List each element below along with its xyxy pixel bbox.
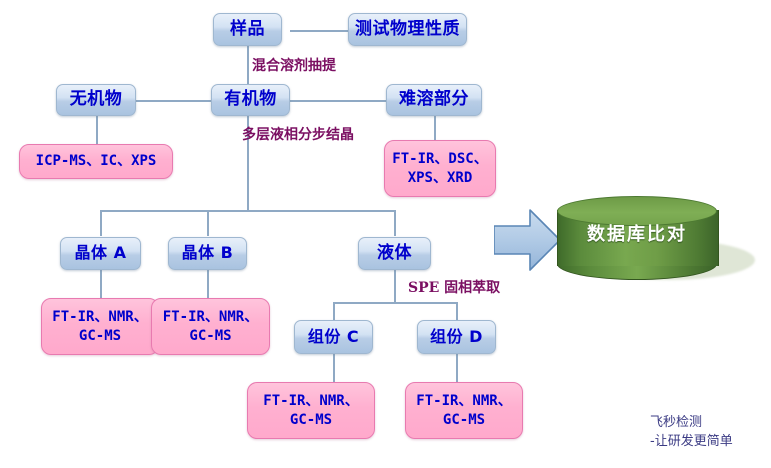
connector-bus-to-crystal-b (207, 210, 209, 236)
connector-branch-bus (100, 210, 396, 212)
method-box-crystal-b[interactable]: FT-IR、NMR、 GC-MS (151, 298, 270, 355)
arrow-to-database-icon (494, 206, 562, 274)
method-box-insoluble-label: FT-IR、DSC、 XPS、XRD (392, 150, 487, 188)
connector-component-d-to-methods (456, 354, 458, 382)
annotation-spe: SPE 固相萃取 (408, 277, 500, 297)
node-insoluble-label: 难溶部分 (399, 90, 469, 110)
method-box-crystal-a-label: FT-IR、NMR、 GC-MS (52, 308, 147, 346)
method-box-crystal-a[interactable]: FT-IR、NMR、 GC-MS (41, 298, 159, 355)
connector-crystal-b-to-methods (207, 270, 209, 298)
node-inorganic-label: 无机物 (70, 90, 123, 110)
connector-bus-to-component-c (333, 302, 335, 320)
node-inorganic[interactable]: 无机物 (56, 84, 136, 116)
node-component-c[interactable]: 组份 C (294, 320, 373, 354)
connector-inorganic-to-methods (96, 116, 98, 144)
node-sample-label: 样品 (230, 20, 265, 40)
node-sample[interactable]: 样品 (213, 13, 282, 46)
connector-bus-to-component-d (456, 302, 458, 320)
node-crystal-a-label: 晶体 A (75, 244, 127, 262)
method-box-component-c-label: FT-IR、NMR、 GC-MS (263, 392, 358, 430)
connector-bus-to-liquid (394, 210, 396, 236)
node-physical-test-label: 测试物理性质 (355, 20, 460, 40)
node-liquid-label: 液体 (377, 244, 412, 264)
method-box-inorganic[interactable]: ICP-MS、IC、XPS (19, 144, 173, 179)
node-crystal-a[interactable]: 晶体 A (60, 237, 141, 270)
connector-spe-bus (333, 302, 458, 304)
node-liquid[interactable]: 液体 (358, 237, 431, 270)
node-insoluble[interactable]: 难溶部分 (386, 84, 482, 116)
connector-liquid-down (394, 270, 396, 302)
connector-inorganic-to-organic (136, 100, 211, 102)
method-box-inorganic-label: ICP-MS、IC、XPS (36, 152, 157, 171)
node-organic[interactable]: 有机物 (211, 84, 290, 116)
connector-component-c-to-methods (333, 354, 335, 382)
node-crystal-b-label: 晶体 B (182, 244, 234, 262)
annotation-extraction: 混合溶剂抽提 (252, 55, 336, 75)
node-crystal-b[interactable]: 晶体 B (168, 237, 247, 270)
connector-crystal-a-to-methods (100, 270, 102, 298)
method-box-insoluble[interactable]: FT-IR、DSC、 XPS、XRD (384, 140, 496, 197)
node-component-d[interactable]: 组份 D (417, 320, 496, 354)
node-physical-test[interactable]: 测试物理性质 (348, 13, 467, 46)
node-component-c-label: 组份 C (308, 328, 359, 346)
method-box-crystal-b-label: FT-IR、NMR、 GC-MS (163, 308, 258, 346)
method-box-component-d-label: FT-IR、NMR、 GC-MS (416, 392, 511, 430)
node-component-d-label: 组份 D (430, 328, 483, 346)
node-organic-label: 有机物 (224, 90, 277, 110)
flowchart-canvas: 样品 测试物理性质 无机物 有机物 难溶部分 晶体 A 晶体 B 液体 组份 C… (0, 0, 771, 468)
connector-organic-to-insoluble (290, 100, 386, 102)
database-cylinder[interactable]: 数据库比对 (557, 196, 762, 288)
connector-bus-to-crystal-a (100, 210, 102, 236)
database-label: 数据库比对 (557, 220, 717, 246)
method-box-component-c[interactable]: FT-IR、NMR、 GC-MS (247, 382, 375, 439)
connector-sample-to-physical-test (290, 30, 348, 32)
annotation-crystallization: 多层液相分步结晶 (242, 124, 354, 144)
method-box-component-d[interactable]: FT-IR、NMR、 GC-MS (405, 382, 523, 439)
connector-insoluble-to-methods (434, 116, 436, 140)
watermark-text: 飞秒检测 -让研发更简单 (650, 414, 733, 452)
